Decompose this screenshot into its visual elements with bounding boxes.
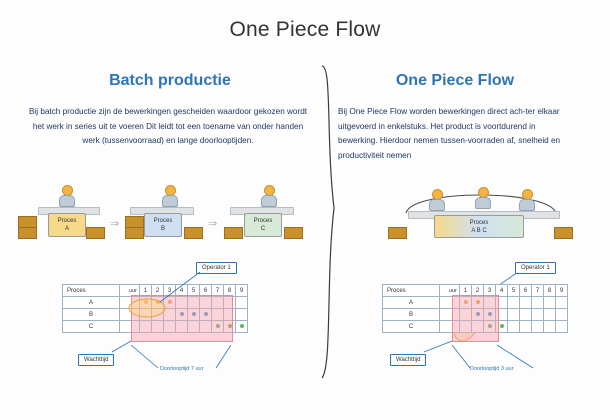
cell (520, 321, 532, 333)
right-table-hour-8: 8 (544, 285, 556, 297)
cell (508, 321, 520, 333)
right-callout-wachttijd: Wachttijd (390, 354, 426, 366)
operator-body-icon (429, 199, 445, 211)
operator-body-icon (475, 197, 491, 209)
right-table-hour-6: 6 (520, 285, 532, 297)
cell (544, 309, 556, 321)
left-column-heading: Batch productie (30, 72, 310, 90)
process-box-a-name: Proces (58, 218, 77, 224)
cell (236, 297, 248, 309)
process-box-a: Proces A (48, 213, 86, 237)
crate (284, 227, 303, 239)
right-table-row-label-a: A (383, 297, 440, 309)
left-table-hour-9: 9 (236, 285, 248, 297)
process-box-c-letter: C (261, 226, 265, 232)
crate (184, 227, 203, 239)
cell (532, 321, 544, 333)
cell (520, 297, 532, 309)
right-callout-operator: Operator 1 (515, 262, 556, 274)
right-table-hour-7: 7 (532, 285, 544, 297)
flow-arrow-2-icon: ⇒ (208, 217, 217, 230)
operator-body-icon (59, 195, 75, 207)
process-box-b: Proces B (144, 213, 182, 237)
process-box-b-letter: B (161, 226, 165, 232)
right-table-row-label-b: B (383, 309, 440, 321)
right-leadtime-band (452, 295, 499, 342)
cell (544, 297, 556, 309)
right-process-illustration: Proces A B C (388, 185, 578, 250)
cell (520, 309, 532, 321)
left-caption-leadtime: Doorlooptijd 7 uur (160, 366, 203, 372)
crate (86, 227, 105, 239)
process-box-b-name: Proces (154, 218, 173, 224)
marker-green (500, 324, 504, 328)
cell (508, 297, 520, 309)
right-table-row-label-c: C (383, 321, 440, 333)
crate (388, 227, 407, 239)
cell (508, 309, 520, 321)
crate (125, 227, 144, 239)
right-caption-leadtime: Doorlooptijd 3 uur (470, 366, 513, 372)
left-column-paragraph: Bij batch productie zijn de bewerkingen … (28, 105, 308, 149)
left-process-illustration: Proces A ⇒ Proces B ⇒ Proces C (18, 185, 318, 250)
flow-arrow-1-icon: ⇒ (110, 217, 119, 230)
cell (236, 309, 248, 321)
process-box-c-name: Proces (254, 218, 273, 224)
left-callout-operator: Operator 1 (196, 262, 237, 274)
marker-green (240, 324, 244, 328)
left-table-row-label-c: C (63, 321, 120, 333)
cell (556, 297, 568, 309)
cell (532, 309, 544, 321)
operator-body-icon (162, 195, 178, 207)
process-box-a-letter: A (65, 226, 69, 232)
right-table-corner-label: Proces (383, 285, 440, 297)
right-table-hour-5: 5 (508, 285, 520, 297)
right-column-paragraph: Bij One Piece Flow worden bewerkingen di… (338, 105, 570, 163)
left-leadtime-band (131, 295, 233, 342)
right-column-heading: One Piece Flow (330, 72, 580, 90)
left-callout-wachttijd: Wachttijd (78, 354, 114, 366)
slide: One Piece Flow Batch productie Bij batch… (0, 0, 610, 420)
process-box-abc: Proces A B C (434, 215, 524, 238)
operator-body-icon (261, 195, 277, 207)
crate (224, 227, 243, 239)
process-box-abc-name: Proces (470, 220, 489, 226)
left-table-corner-label: Proces (63, 285, 120, 297)
crate (554, 227, 573, 239)
process-box-abc-letter: A B C (471, 228, 486, 234)
cell (532, 297, 544, 309)
cell (236, 321, 248, 333)
crate (18, 227, 37, 239)
cell (544, 321, 556, 333)
operator-body-icon (519, 199, 535, 211)
page-title: One Piece Flow (0, 18, 610, 42)
cell (556, 321, 568, 333)
cell (556, 309, 568, 321)
process-box-c: Proces C (244, 213, 282, 237)
left-table-row-label-a: A (63, 297, 120, 309)
left-table-row-label-b: B (63, 309, 120, 321)
right-table-hour-9: 9 (556, 285, 568, 297)
